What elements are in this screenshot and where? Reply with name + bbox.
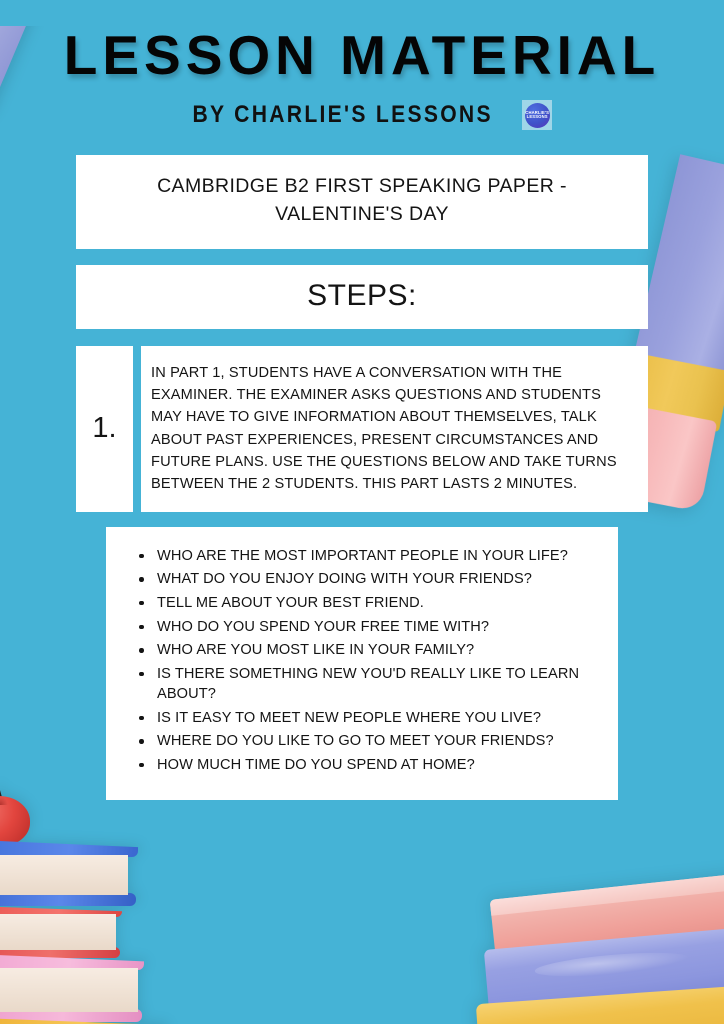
- list-item: WHO ARE YOU MOST LIKE IN YOUR FAMILY?: [126, 640, 596, 660]
- book-yellow-cover: [0, 1018, 166, 1024]
- lesson-title-card: CAMBRIDGE B2 FIRST SPEAKING PAPER - VALE…: [76, 155, 648, 248]
- book-pink-pages: [0, 968, 138, 1012]
- book-blue-cover: [0, 840, 138, 857]
- step-number: 1.: [76, 346, 133, 512]
- poster-content: LESSON MATERIAL BY CHARLIE'S LESSONS CHA…: [0, 26, 724, 800]
- book-blue-base: [0, 893, 136, 906]
- steps-heading-card: STEPS:: [76, 265, 648, 329]
- list-item: WHAT DO YOU ENJOY DOING WITH YOUR FRIEND…: [126, 569, 596, 589]
- book-pink: [490, 872, 724, 957]
- book-stack-bottom-left-icon: [0, 808, 176, 1024]
- list-item: WHO ARE THE MOST IMPORTANT PEOPLE IN YOU…: [126, 546, 596, 566]
- logo-line-2: LESSONS: [527, 115, 548, 119]
- book-periwinkle: [484, 926, 724, 1012]
- page-title: LESSON MATERIAL: [0, 26, 724, 84]
- book-pink-cover: [0, 954, 144, 970]
- book-red-base: [0, 947, 120, 958]
- list-item: IS THERE SOMETHING NEW YOU'D REALLY LIKE…: [126, 664, 596, 704]
- book-stack-bottom-right-icon: [454, 864, 724, 1024]
- book-yellow: [476, 984, 724, 1024]
- apple-body: [0, 796, 30, 846]
- byline-text: BY CHARLIE'S LESSONS: [192, 101, 492, 129]
- questions-list: WHO ARE THE MOST IMPORTANT PEOPLE IN YOU…: [126, 546, 596, 775]
- list-item: WHERE DO YOU LIKE TO GO TO MEET YOUR FRI…: [126, 731, 596, 751]
- questions-card: WHO ARE THE MOST IMPORTANT PEOPLE IN YOU…: [106, 527, 618, 801]
- book-pink-base: [0, 1009, 142, 1022]
- list-item: HOW MUCH TIME DO YOU SPEND AT HOME?: [126, 755, 596, 775]
- book-red-cover: [0, 906, 122, 917]
- step-row: 1. IN PART 1, STUDENTS HAVE A CONVERSATI…: [76, 346, 648, 512]
- charlies-lessons-logo-icon: CHARLIE'S LESSONS: [522, 100, 552, 130]
- book-red-pages: [0, 914, 116, 950]
- step-description: IN PART 1, STUDENTS HAVE A CONVERSATION …: [141, 346, 648, 512]
- book-blue-pages: [0, 855, 128, 895]
- list-item: IS IT EASY TO MEET NEW PEOPLE WHERE YOU …: [126, 708, 596, 728]
- byline-row: BY CHARLIE'S LESSONS CHARLIE'S LESSONS: [0, 100, 724, 130]
- logo-disc: CHARLIE'S LESSONS: [525, 103, 550, 128]
- list-item: WHO DO YOU SPEND YOUR FREE TIME WITH?: [126, 617, 596, 637]
- list-item: TELL ME ABOUT YOUR BEST FRIEND.: [126, 593, 596, 613]
